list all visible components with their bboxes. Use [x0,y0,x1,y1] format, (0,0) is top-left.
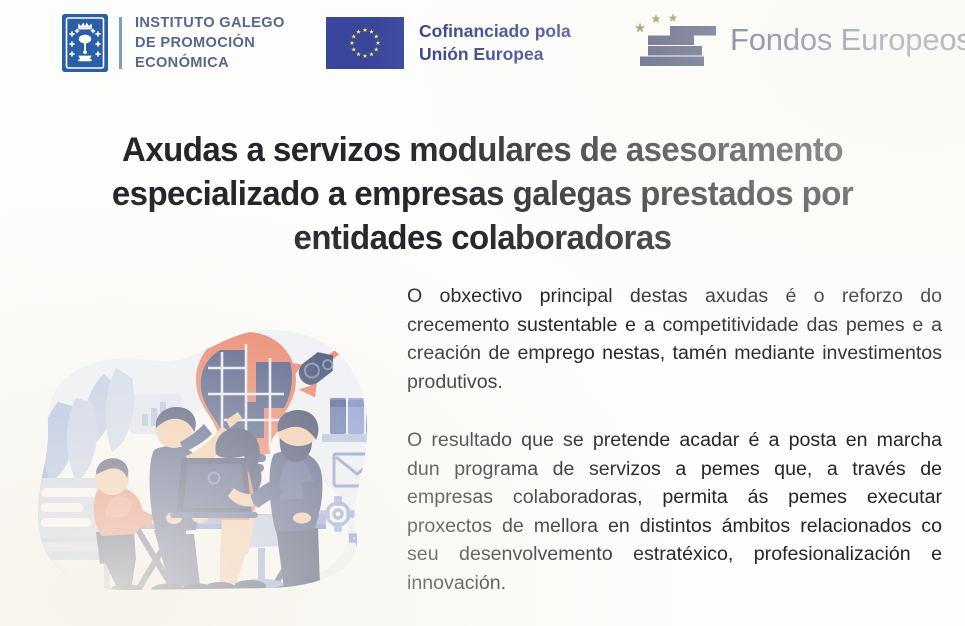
poster-page: INSTITUTO GALEGO DE PROMOCIÓN ECONÓMICA [0,0,965,626]
logo-bar: INSTITUTO GALEGO DE PROMOCIÓN ECONÓMICA [0,0,965,88]
logo-european-union: Cofinanciado pola Unión Europea [326,17,571,69]
igape-logo-text: INSTITUTO GALEGO DE PROMOCIÓN ECONÓMICA [135,13,285,73]
body-copy: O obxectivo principal destas axudas é o … [407,282,942,626]
team-collaboration-illustration [8,302,400,620]
eu-flag-icon [326,17,404,69]
logo-igape: INSTITUTO GALEGO DE PROMOCIÓN ECONÓMICA [62,13,285,73]
paragraph-result: O resultado que se pretende acadar é a p… [407,426,942,626]
shelf-with-binders [322,398,400,442]
page-title: Axudas a servizos modulares de asesorame… [54,129,911,260]
desk-laptop [170,458,258,518]
logo-fondos-europeos: Fondos Europeos [618,8,965,72]
paragraph-objective: O obxectivo principal destas axudas é o … [407,282,942,396]
fondos-europeos-stairs-icon [618,8,722,72]
eu-logo-text: Cofinanciado pola Unión Europea [419,20,571,67]
galicia-coat-of-arms-icon [62,14,108,72]
fondos-europeos-logo-text: Fondos Europeos [730,22,965,58]
logo-divider [119,17,122,69]
